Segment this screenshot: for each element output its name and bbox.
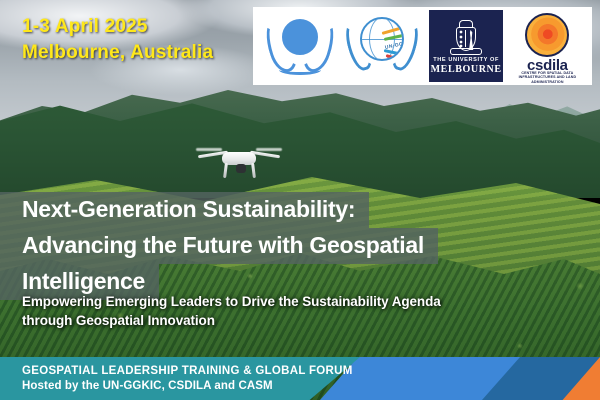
ggkic-globe: UN-GGKIC [360,17,404,61]
drone-icon [196,140,282,184]
subtitle-line-2: through Geospatial Innovation [22,311,582,330]
drone-leg-right [251,163,256,178]
page-subtitle: Empowering Emerging Leaders to Drive the… [22,292,582,330]
event-location: Melbourne, Australia [22,40,213,66]
drone-camera-gimbal [236,164,246,173]
drone-leg-left [223,163,228,178]
headline-line-2: Advancing the Future with Geospatial [0,228,438,264]
ggkic-equator [360,39,404,40]
subtitle-line-1: Empowering Emerging Leaders to Drive the… [22,292,582,311]
event-poster: 1-3 April 2025 Melbourne, Australia [0,0,600,400]
footer-line-1: GEOSPATIAL LEADERSHIP TRAINING & GLOBAL … [22,364,353,379]
melbourne-ribbon [450,48,482,55]
un-wreath-base [279,65,321,75]
un-meridian [300,21,301,53]
csdila-tagline: CENTRE FOR SPATIAL DATA INFRASTRUCTURES … [516,71,578,84]
event-date-location: 1-3 April 2025 Melbourne, Australia [22,14,213,66]
footer-bar: GEOSPATIAL LEADERSHIP TRAINING & GLOBAL … [0,357,600,400]
drone-propeller-left [196,148,222,151]
melbourne-line2: MELBOURNE [431,64,502,75]
united-nations-emblem-icon [265,13,335,79]
event-date: 1-3 April 2025 [22,14,213,40]
csdila-logo-icon: csdila CENTRE FOR SPATIAL DATA INFRASTRU… [514,11,580,81]
un-globe [282,19,318,55]
logo-bar: UN-GGKIC THE UNIVERSITY OF MELBOURNE csd… [253,7,592,85]
un-ggkic-emblem-icon: UN-GGKIC [346,13,418,79]
footer-text: GEOSPATIAL LEADERSHIP TRAINING & GLOBAL … [22,364,353,394]
melbourne-southern-cross-stars [458,30,465,48]
melbourne-crest [449,19,483,55]
footer-line-2: Hosted by the UN-GGKIC, CSDILA and CASM [22,379,353,394]
csdila-concentric-circles [525,13,569,57]
melbourne-line1: THE UNIVERSITY OF [433,57,499,63]
melbourne-crest-crown [459,20,473,27]
university-of-melbourne-logo-icon: THE UNIVERSITY OF MELBOURNE [429,10,503,82]
headline-line-1: Next-Generation Sustainability: [0,192,369,228]
drone-propeller-right [256,148,282,151]
page-title: Next-Generation Sustainability: Advancin… [0,192,600,300]
